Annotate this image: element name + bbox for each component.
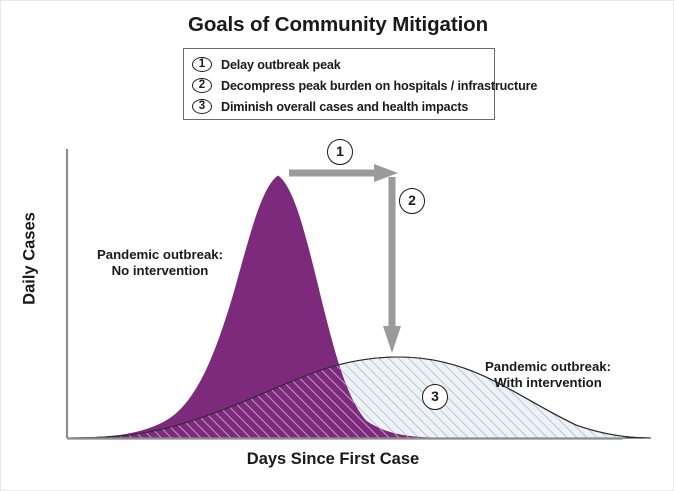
figure-container: Goals of Community Mitigation 1 Delay ou… xyxy=(0,0,674,491)
annotation-marker-2-icon: 2 xyxy=(399,188,425,214)
annotation-marker-1-icon: 1 xyxy=(327,139,353,165)
y-axis-label: Daily Cases xyxy=(21,204,40,314)
delay-peak-arrow xyxy=(289,164,398,182)
with-intervention-label-line1: Pandemic outbreak: xyxy=(485,359,611,374)
annotation-marker-3-icon: 3 xyxy=(422,384,448,410)
with-intervention-label-line2: With intervention xyxy=(494,375,602,390)
epidemic-curves-plot xyxy=(1,1,674,491)
no-intervention-label-line2: No intervention xyxy=(112,263,209,278)
with-intervention-curve-label: Pandemic outbreak: With intervention xyxy=(473,359,623,391)
no-intervention-curve-label: Pandemic outbreak: No intervention xyxy=(85,247,235,279)
x-axis-label: Days Since First Case xyxy=(63,450,603,469)
no-intervention-label-line1: Pandemic outbreak: xyxy=(97,247,223,262)
